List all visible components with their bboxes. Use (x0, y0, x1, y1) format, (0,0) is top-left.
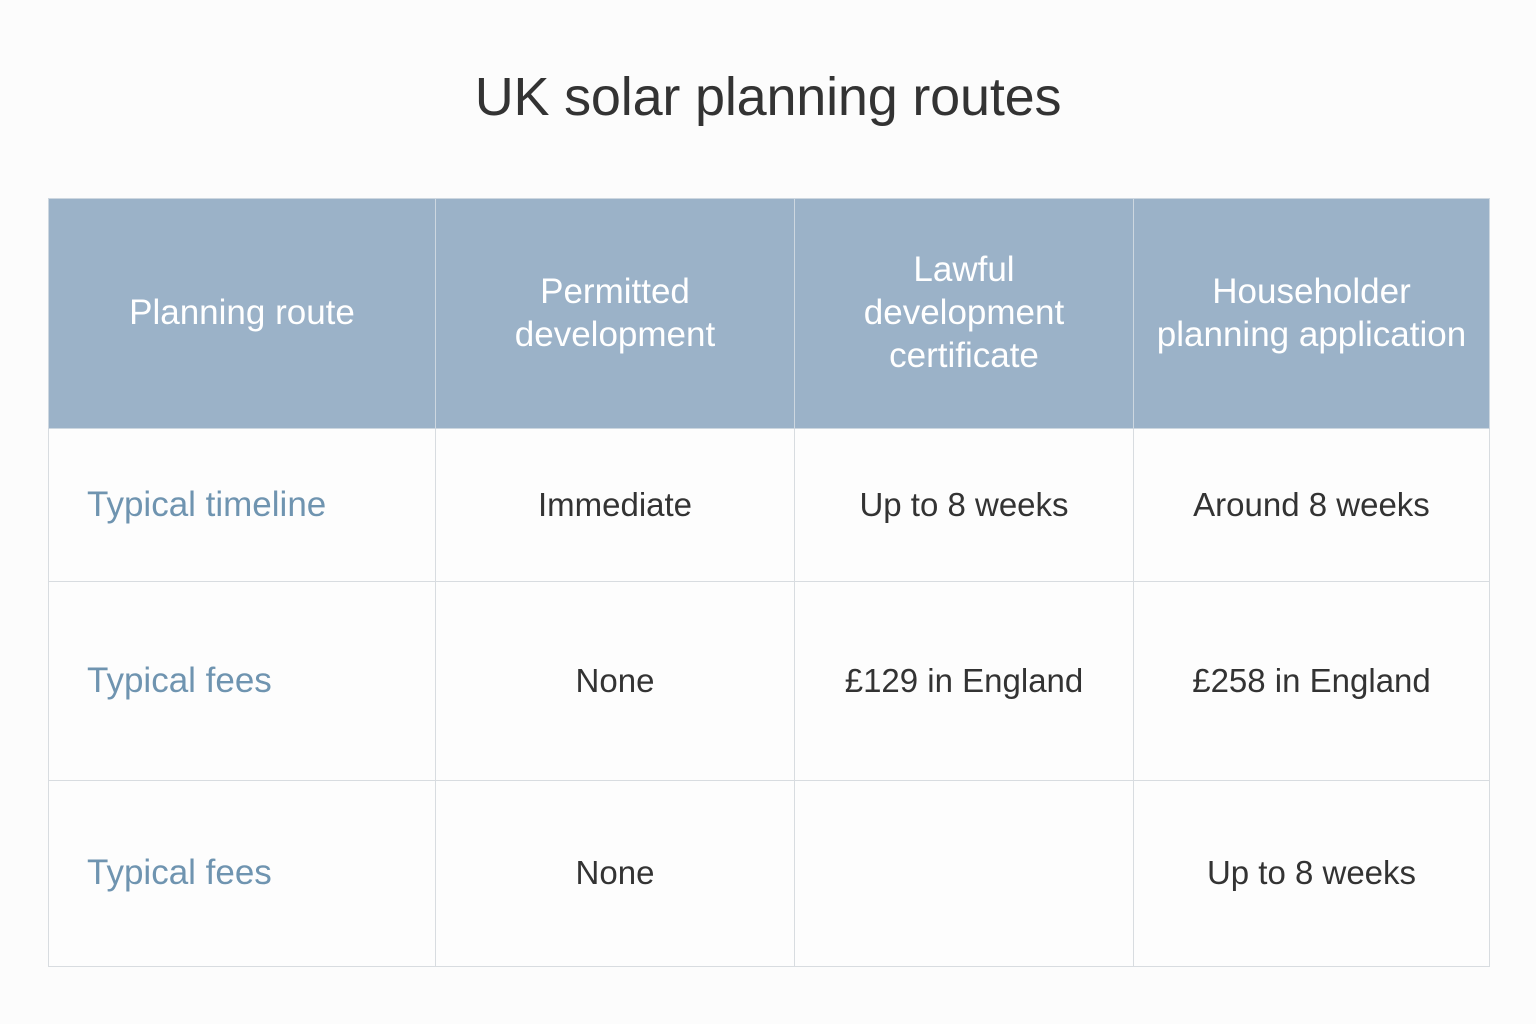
table-row: Typical timeline Immediate Up to 8 weeks… (49, 429, 1490, 582)
planning-routes-table: Planning route Permitted development Law… (48, 198, 1490, 967)
table-row: Typical fees None £129 in England £258 i… (49, 582, 1490, 781)
cell-fees-householder-planning-application: £258 in England (1134, 582, 1490, 781)
column-header-permitted-development: Permitted development (436, 199, 795, 429)
table-body: Typical timeline Immediate Up to 8 weeks… (49, 429, 1490, 967)
cell-timeline-householder-planning-application: Around 8 weeks (1134, 429, 1490, 582)
page-title: UK solar planning routes (0, 66, 1536, 130)
row-label-typical-fees: Typical fees (49, 582, 436, 781)
table-header-row: Planning route Permitted development Law… (49, 199, 1490, 429)
column-header-householder-planning-application: Householder planning application (1134, 199, 1490, 429)
column-header-planning-route: Planning route (49, 199, 436, 429)
column-header-lawful-development-certificate: Lawful development certificate (795, 199, 1134, 429)
cell-timeline-lawful-development-certificate: Up to 8 weeks (795, 429, 1134, 582)
table-row: Typical fees None Up to 8 weeks (49, 781, 1490, 967)
row-label-typical-fees-secondary: Typical fees (49, 781, 436, 967)
cell-fees2-lawful-development-certificate (795, 781, 1134, 967)
planning-routes-table-wrapper: Planning route Permitted development Law… (48, 198, 1489, 967)
cell-fees-permitted-development: None (436, 582, 795, 781)
cell-fees-lawful-development-certificate: £129 in England (795, 582, 1134, 781)
table-header: Planning route Permitted development Law… (49, 199, 1490, 429)
cell-timeline-permitted-development: Immediate (436, 429, 795, 582)
row-label-typical-timeline: Typical timeline (49, 429, 436, 582)
cell-fees2-permitted-development: None (436, 781, 795, 967)
page-root: UK solar planning routes Planning route … (0, 0, 1536, 1024)
cell-fees2-householder-planning-application: Up to 8 weeks (1134, 781, 1490, 967)
